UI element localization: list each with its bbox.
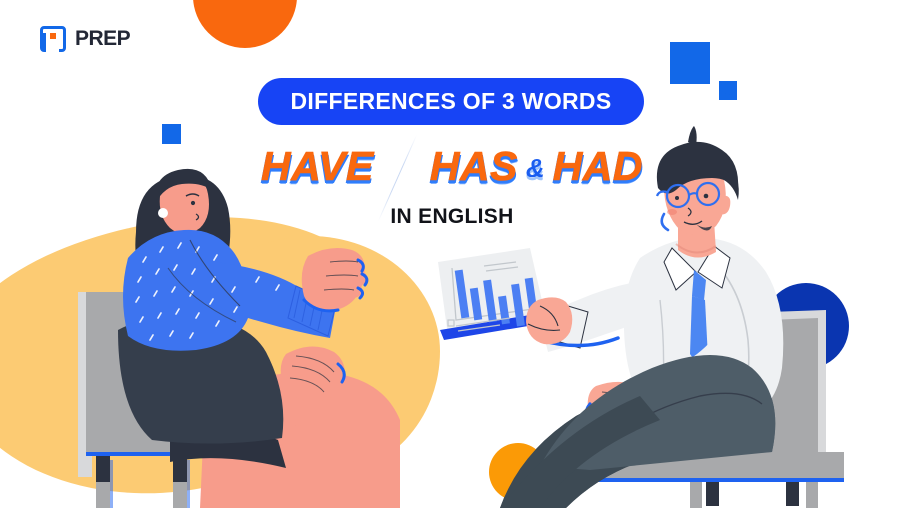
headline-word-have: HAVE — [261, 143, 374, 190]
navy-circle-decoration — [763, 283, 849, 369]
sparkle-large-right-icon — [670, 42, 710, 84]
yellow-blob-secondary-decoration — [180, 236, 440, 476]
brand-logo[interactable]: PREP — [40, 26, 130, 52]
headline-word-has: HAS — [430, 143, 518, 190]
brand-name: PREP — [75, 27, 130, 51]
poster-canvas: PREP DIFFERENCES OF 3 WORDS HAVE HAS & H… — [0, 0, 904, 508]
sparkle-small-right-icon — [719, 81, 737, 100]
sparkle-small-left-icon — [162, 124, 181, 144]
headline-words-row: HAVE HAS & HAD — [252, 143, 652, 191]
eyeglasses-icon — [657, 183, 719, 207]
sub-headline-text: IN ENGLISH — [0, 205, 904, 229]
amber-circle-decoration — [489, 443, 547, 501]
headline-word-had: HAD — [553, 143, 643, 190]
prep-logo-icon — [40, 26, 66, 52]
headline-ampersand: & — [526, 153, 545, 184]
orange-top-circle-decoration — [193, 0, 297, 48]
bar-chart-paper-document — [438, 248, 552, 340]
headline-pill-badge: DIFFERENCES OF 3 WORDS — [258, 78, 644, 125]
headline-pill-label: DIFFERENCES OF 3 WORDS — [291, 88, 612, 115]
